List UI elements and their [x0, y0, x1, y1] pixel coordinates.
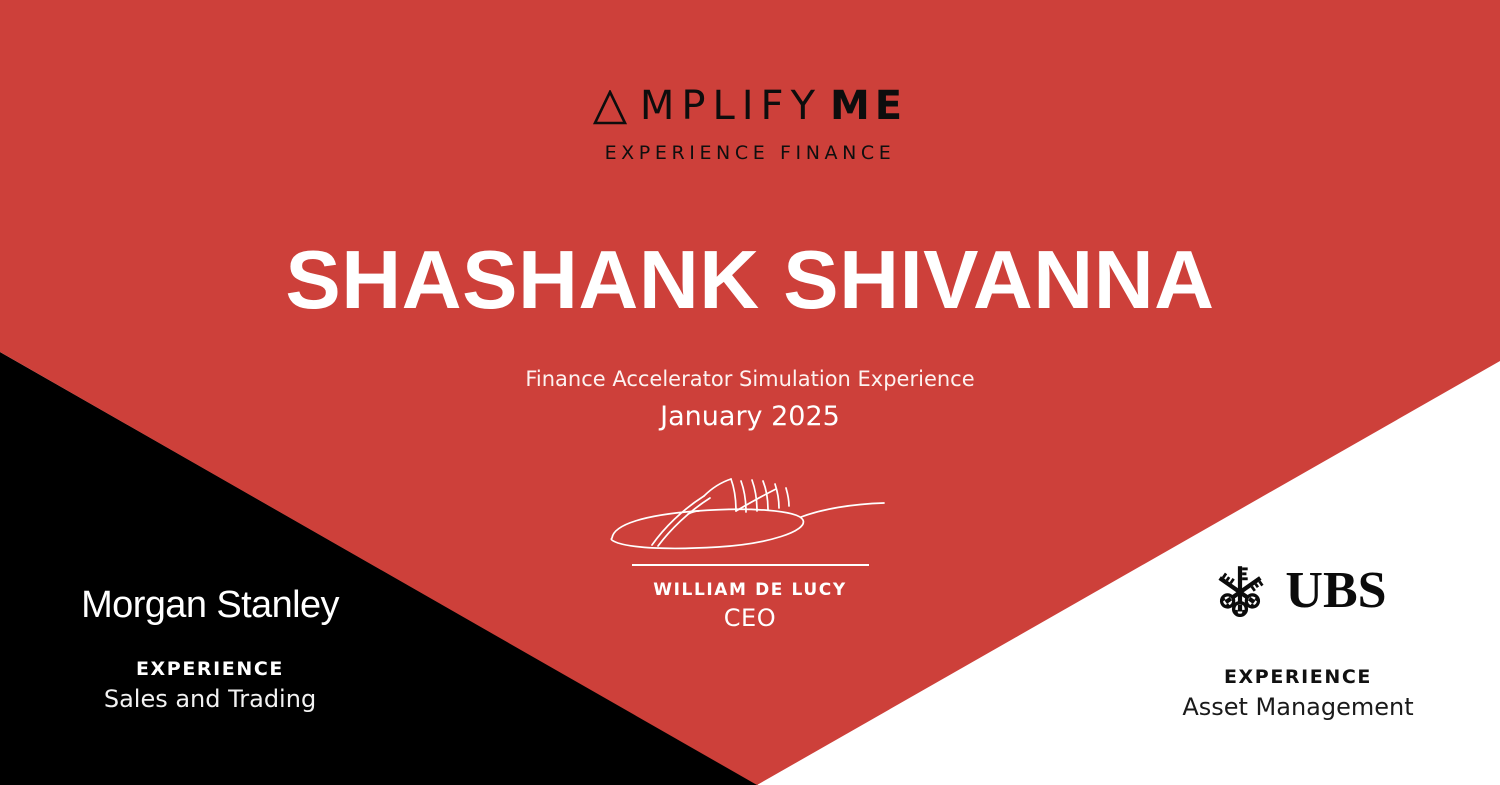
recipient-name: SHASHANK SHIVANNA — [0, 238, 1500, 321]
ubs-three-keys-icon — [1209, 560, 1271, 622]
certificate-canvas: MPLIFY ME EXPERIENCE FINANCE SHASHANK SH… — [0, 0, 1500, 785]
morgan-stanley-logo: Morgan Stanley — [0, 586, 420, 624]
partner-experience-label: EXPERIENCE — [1088, 668, 1500, 687]
amplifyme-wordmark-bold: ME — [830, 86, 907, 126]
ubs-wordmark: UBS — [1285, 565, 1386, 617]
certificate-date: January 2025 — [0, 401, 1500, 432]
partner-desk-name: Sales and Trading — [0, 687, 420, 711]
partner-block-ubs: UBS EXPERIENCE Asset Management — [1088, 560, 1500, 719]
amplifyme-wordmark-light: MPLIFY — [640, 86, 822, 126]
ubs-logo: UBS — [1088, 560, 1500, 622]
signature-rule — [632, 564, 869, 566]
delta-a-icon — [593, 90, 627, 125]
amplifyme-wordmark: MPLIFY ME — [593, 86, 907, 126]
partner-experience-label: EXPERIENCE — [0, 660, 420, 679]
handwritten-signature — [600, 470, 900, 560]
amplifyme-tagline: EXPERIENCE FINANCE — [0, 142, 1500, 164]
amplifyme-logo: MPLIFY ME EXPERIENCE FINANCE — [0, 86, 1500, 164]
partner-block-morgan-stanley: Morgan Stanley EXPERIENCE Sales and Trad… — [0, 586, 420, 711]
partner-desk-name: Asset Management — [1088, 695, 1500, 719]
program-title: Finance Accelerator Simulation Experienc… — [0, 367, 1500, 391]
